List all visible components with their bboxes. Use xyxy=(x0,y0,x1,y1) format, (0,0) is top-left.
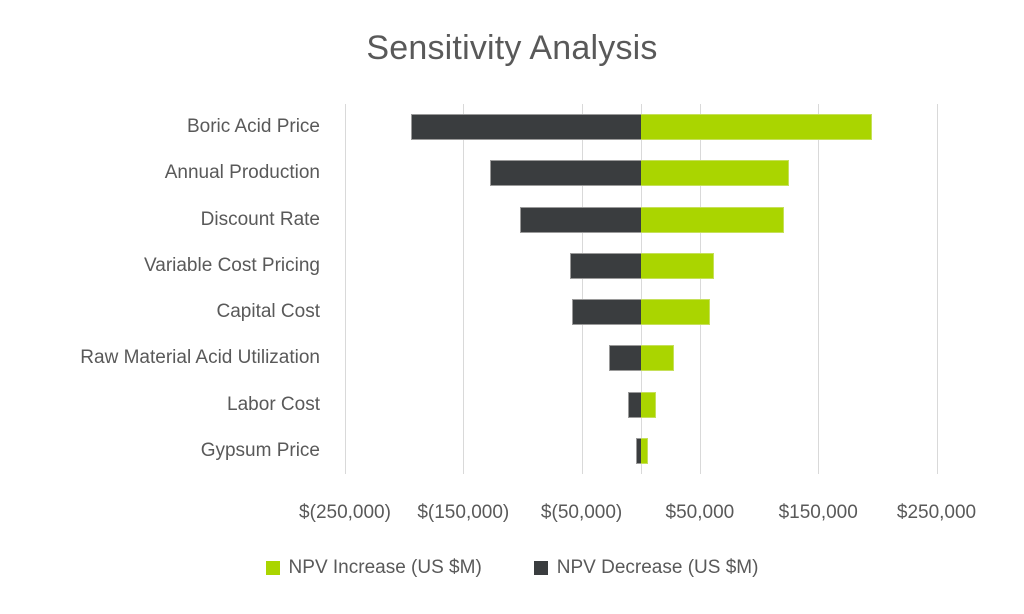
category-label: Raw Material Acid Utilization xyxy=(80,346,320,370)
bar-npv-increase[interactable] xyxy=(641,438,648,464)
category-row: Capital Cost xyxy=(0,289,1024,335)
sensitivity-analysis-chart: Sensitivity Analysis Boric Acid PriceAnn… xyxy=(0,0,1024,614)
category-label: Variable Cost Pricing xyxy=(144,254,320,278)
chart-legend: NPV Increase (US $M)NPV Decrease (US $M) xyxy=(0,556,1024,580)
category-row: Annual Production xyxy=(0,150,1024,196)
bar-npv-increase[interactable] xyxy=(641,160,789,186)
x-axis-tick-label: $50,000 xyxy=(666,498,735,528)
category-label: Boric Acid Price xyxy=(187,115,320,139)
bar-npv-increase[interactable] xyxy=(641,392,656,418)
x-axis-tick-labels: $(250,000)$(150,000)$(50,000)$50,000$150… xyxy=(0,498,1024,532)
bar-npv-decrease[interactable] xyxy=(411,114,641,140)
legend-label: NPV Decrease (US $M) xyxy=(557,556,759,580)
legend-item[interactable]: NPV Decrease (US $M) xyxy=(534,556,759,580)
bar-npv-increase[interactable] xyxy=(641,345,674,371)
category-label: Discount Rate xyxy=(201,208,320,232)
chart-title: Sensitivity Analysis xyxy=(0,28,1024,68)
category-rows: Boric Acid PriceAnnual ProductionDiscoun… xyxy=(0,104,1024,474)
legend-label: NPV Increase (US $M) xyxy=(289,556,482,580)
category-row: Variable Cost Pricing xyxy=(0,243,1024,289)
bar-npv-increase[interactable] xyxy=(641,114,872,140)
bar-npv-increase[interactable] xyxy=(641,253,714,279)
bar-npv-decrease[interactable] xyxy=(609,345,641,371)
legend-swatch-dark xyxy=(534,561,548,575)
bar-npv-decrease[interactable] xyxy=(570,253,641,279)
bar-npv-decrease[interactable] xyxy=(628,392,641,418)
legend-item[interactable]: NPV Increase (US $M) xyxy=(266,556,482,580)
category-row: Labor Cost xyxy=(0,382,1024,428)
bar-npv-increase[interactable] xyxy=(641,207,784,233)
bar-npv-decrease[interactable] xyxy=(490,160,640,186)
legend-swatch-green xyxy=(266,561,280,575)
bar-npv-decrease[interactable] xyxy=(572,299,641,325)
category-row: Gypsum Price xyxy=(0,428,1024,474)
x-axis-tick-label: $(150,000) xyxy=(417,498,509,528)
bar-npv-increase[interactable] xyxy=(641,299,710,325)
category-row: Raw Material Acid Utilization xyxy=(0,335,1024,381)
x-axis-tick-label: $250,000 xyxy=(897,498,976,528)
x-axis-tick-label: $(250,000) xyxy=(299,498,391,528)
category-label: Labor Cost xyxy=(227,393,320,417)
category-label: Capital Cost xyxy=(217,300,321,324)
x-axis-tick-label: $150,000 xyxy=(779,498,858,528)
category-label: Annual Production xyxy=(165,161,320,185)
x-axis-tick-label: $(50,000) xyxy=(541,498,622,528)
category-label: Gypsum Price xyxy=(201,439,320,463)
bar-npv-decrease[interactable] xyxy=(520,207,641,233)
category-row: Discount Rate xyxy=(0,197,1024,243)
category-row: Boric Acid Price xyxy=(0,104,1024,150)
